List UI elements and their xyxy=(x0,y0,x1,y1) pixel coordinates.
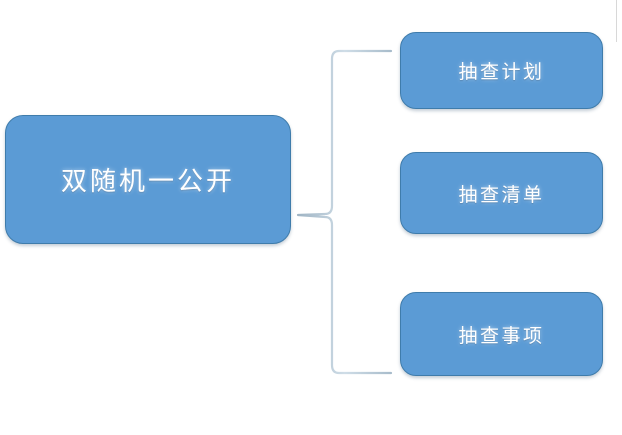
brace-svg xyxy=(292,38,402,388)
brace-connector-icon xyxy=(292,38,402,388)
child-node-chouchaqingdan[interactable]: 抽查清单 xyxy=(400,152,603,234)
child-node-label: 抽查事项 xyxy=(458,321,544,348)
child-node-label: 抽查计划 xyxy=(458,57,544,84)
child-node-chouchajihua[interactable]: 抽查计划 xyxy=(400,32,603,109)
brace-path xyxy=(298,51,391,373)
child-node-chouchashixiang[interactable]: 抽查事项 xyxy=(400,292,603,376)
child-node-label: 抽查清单 xyxy=(458,180,544,207)
diagram-canvas: 双随机一公开 抽查计划 抽查清单 抽查事项 xyxy=(0,0,622,435)
root-node[interactable]: 双随机一公开 xyxy=(5,115,291,244)
edge-artifact-line xyxy=(616,0,617,42)
root-node-label: 双随机一公开 xyxy=(61,161,235,198)
